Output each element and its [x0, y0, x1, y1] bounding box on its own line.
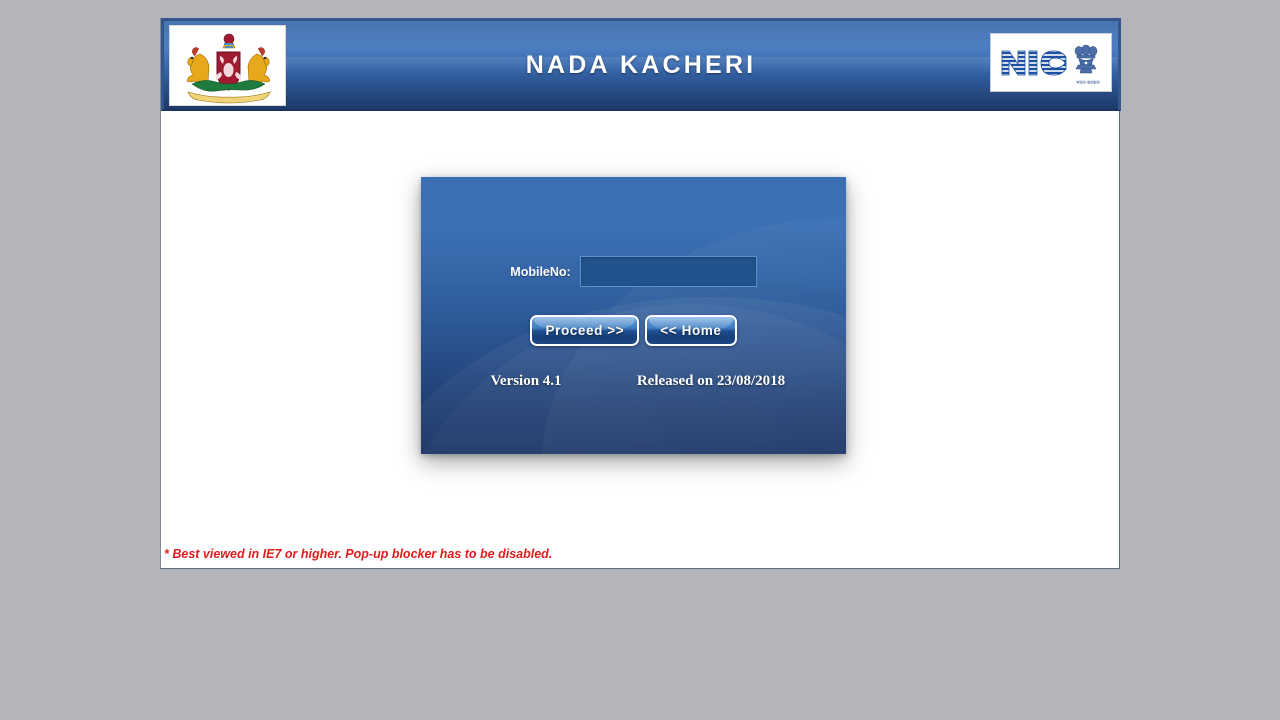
site-header: NADA KACHERI [161, 18, 1121, 111]
content-area: MobileNo: Proceed >> << Home Version 4.1… [161, 111, 1119, 566]
mobile-number-row: MobileNo: [421, 256, 846, 287]
mobile-number-label: MobileNo: [510, 265, 570, 279]
home-button[interactable]: << Home [645, 315, 736, 346]
login-panel: MobileNo: Proceed >> << Home Version 4.1… [421, 177, 846, 454]
browser-compatibility-note: * Best viewed in IE7 or higher. Pop-up b… [164, 547, 552, 561]
proceed-button[interactable]: Proceed >> [530, 315, 639, 346]
release-date: Released on 23/08/2018 [604, 373, 819, 390]
version-info-row: Version 4.1 Released on 23/08/2018 [421, 373, 846, 390]
nic-subtext: भारत सरकार [1076, 80, 1101, 86]
page-title: NADA KACHERI [164, 51, 1118, 80]
proceed-button-label: Proceed >> [545, 323, 624, 338]
nic-logo: भारत सरकार [990, 33, 1112, 92]
version-number: Version 4.1 [449, 373, 604, 390]
page-frame: NADA KACHERI [160, 18, 1120, 569]
mobile-number-input[interactable] [580, 256, 757, 287]
action-button-row: Proceed >> << Home [421, 315, 846, 346]
home-button-label: << Home [660, 323, 721, 338]
